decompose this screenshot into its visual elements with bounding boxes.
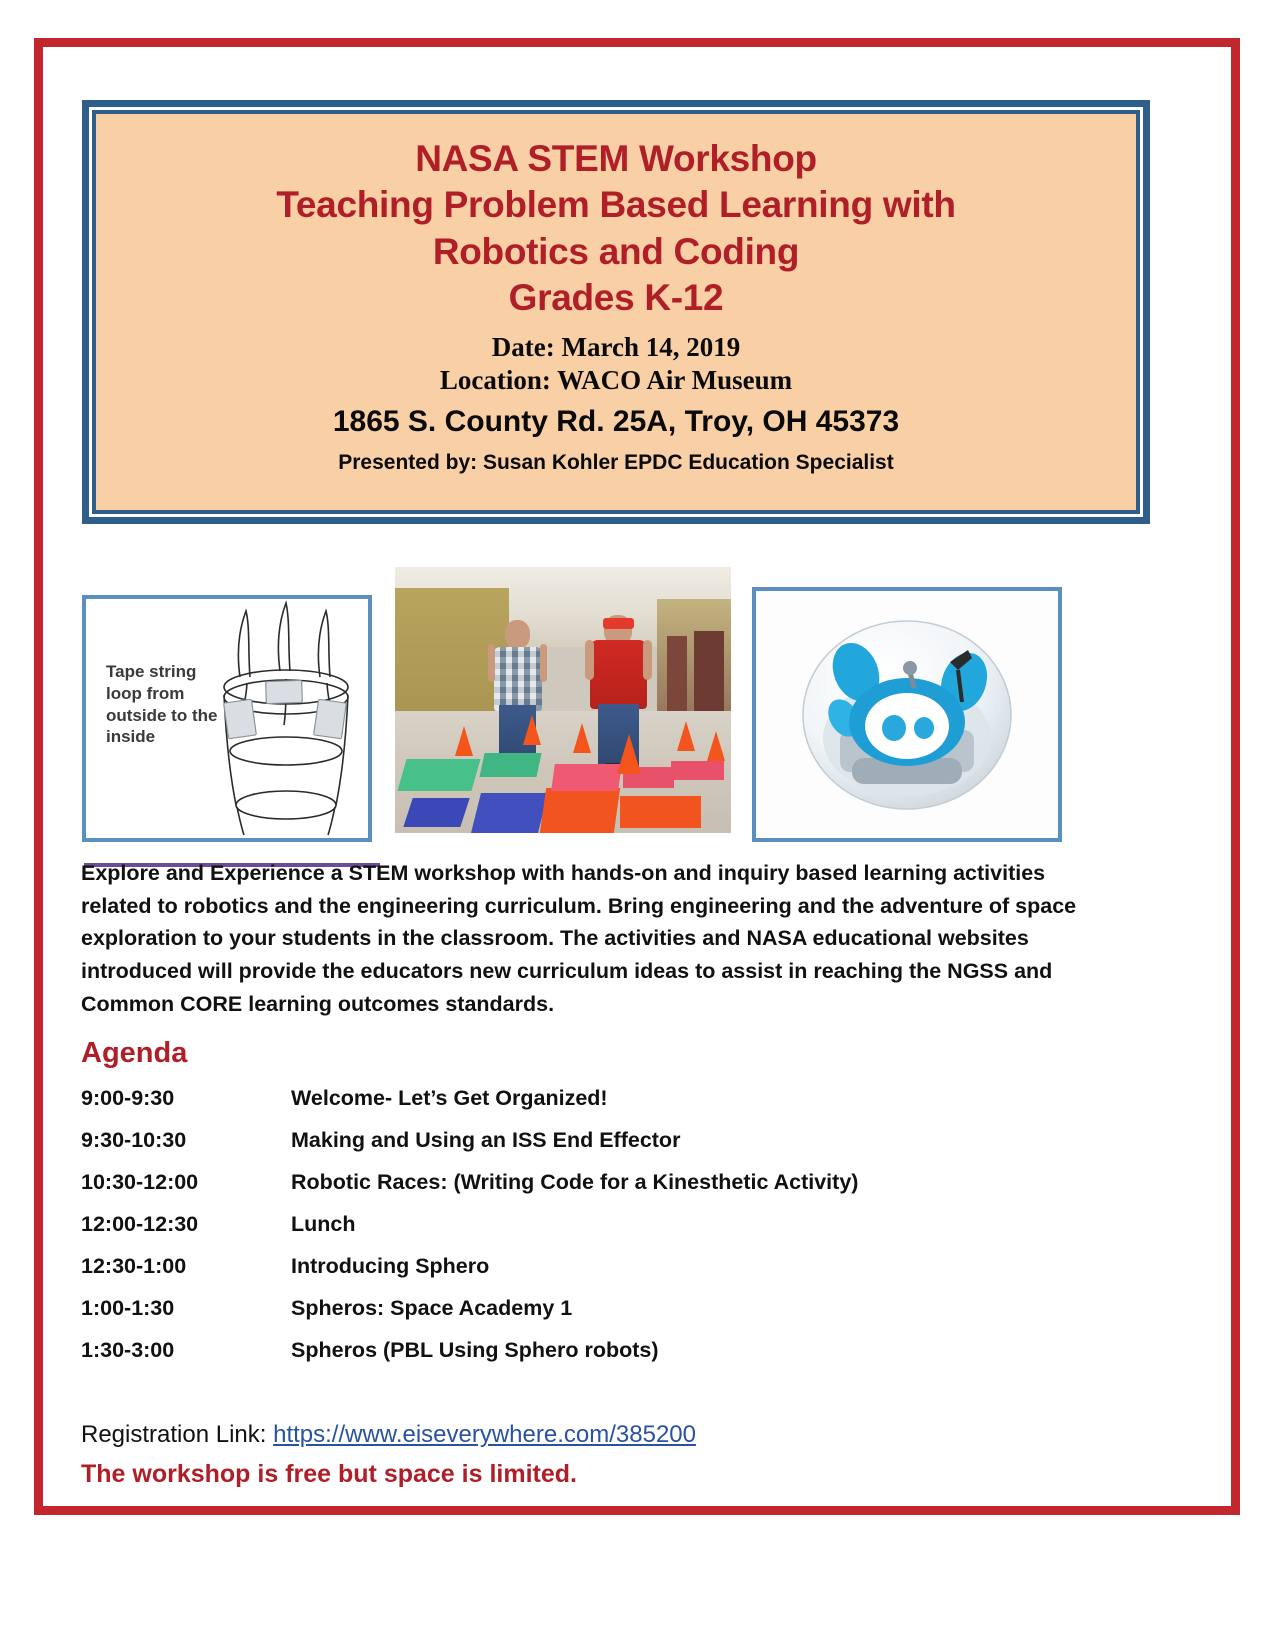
flyer-red-border: NASA STEM Workshop Teaching Problem Base… (34, 38, 1240, 1515)
agenda-row: 12:30-1:00 Introducing Sphero (81, 1245, 1041, 1287)
title-line-4: Grades K-12 (509, 275, 724, 321)
agenda-time: 9:00-9:30 (81, 1077, 291, 1119)
event-date: Date: March 14, 2019 (492, 331, 740, 364)
header-banner: NASA STEM Workshop Teaching Problem Base… (82, 100, 1150, 524)
robotic-races-scene (395, 567, 731, 833)
agenda-activity: Lunch (291, 1203, 1041, 1245)
tape-string-loop-diagram: Tape string loop from outside to the ins… (82, 595, 372, 842)
title-line-1: NASA STEM Workshop (415, 136, 817, 182)
agenda-activity: Spheros (PBL Using Sphero robots) (291, 1329, 1041, 1371)
sphero-ball-illustration (782, 610, 1032, 820)
sphero-scene (756, 591, 1058, 838)
title-line-2: Teaching Problem Based Learning with (276, 182, 955, 228)
agenda-activity: Introducing Sphero (291, 1245, 1041, 1287)
event-address: 1865 S. County Rd. 25A, Troy, OH 45373 (333, 403, 899, 441)
agenda-row: 1:00-1:30 Spheros: Space Academy 1 (81, 1287, 1041, 1329)
agenda-row: 10:30-12:00 Robotic Races: (Writing Code… (81, 1161, 1041, 1203)
image-row: Tape string loop from outside to the ins… (82, 567, 1150, 842)
space-limited-notice: The workshop is free but space is limite… (81, 1460, 577, 1489)
agenda-activity: Spheros: Space Academy 1 (291, 1287, 1041, 1329)
registration-link[interactable]: https://www.eiseverywhere.com/385200 (273, 1421, 696, 1448)
cup-line-drawing (206, 599, 366, 837)
registration-line: Registration Link: https://www.eiseveryw… (81, 1421, 696, 1449)
agenda-time: 1:00-1:30 (81, 1287, 291, 1329)
sphero-robot-photo (752, 587, 1062, 842)
agenda-time: 12:30-1:00 (81, 1245, 291, 1287)
agenda-time: 12:00-12:30 (81, 1203, 291, 1245)
agenda-row: 9:00-9:30 Welcome- Let’s Get Organized! (81, 1077, 1041, 1119)
agenda-activity: Making and Using an ISS End Effector (291, 1119, 1041, 1161)
robotic-races-photo (395, 567, 731, 833)
flyer-content: NASA STEM Workshop Teaching Problem Base… (43, 47, 1231, 1506)
title-line-3: Robotics and Coding (433, 229, 799, 275)
event-location: Location: WACO Air Museum (440, 364, 792, 397)
agenda-row: 12:00-12:30 Lunch (81, 1203, 1041, 1245)
agenda-time: 1:30-3:00 (81, 1329, 291, 1371)
agenda-activity: Welcome- Let’s Get Organized! (291, 1077, 1041, 1119)
agenda-row: 9:30-10:30 Making and Using an ISS End E… (81, 1119, 1041, 1161)
agenda-table: 9:00-9:30 Welcome- Let’s Get Organized! … (81, 1077, 1041, 1371)
agenda-row: 1:30-3:00 Spheros (PBL Using Sphero robo… (81, 1329, 1041, 1371)
agenda-heading: Agenda (81, 1037, 187, 1070)
registration-label: Registration Link: (81, 1421, 266, 1448)
header-banner-inner: NASA STEM Workshop Teaching Problem Base… (92, 110, 1140, 514)
agenda-time: 10:30-12:00 (81, 1161, 291, 1203)
event-presenter: Presented by: Susan Kohler EPDC Educatio… (338, 449, 893, 476)
agenda-time: 9:30-10:30 (81, 1119, 291, 1161)
agenda-activity: Robotic Races: (Writing Code for a Kines… (291, 1161, 1041, 1203)
description-paragraph: Explore and Experience a STEM workshop w… (81, 857, 1111, 1020)
